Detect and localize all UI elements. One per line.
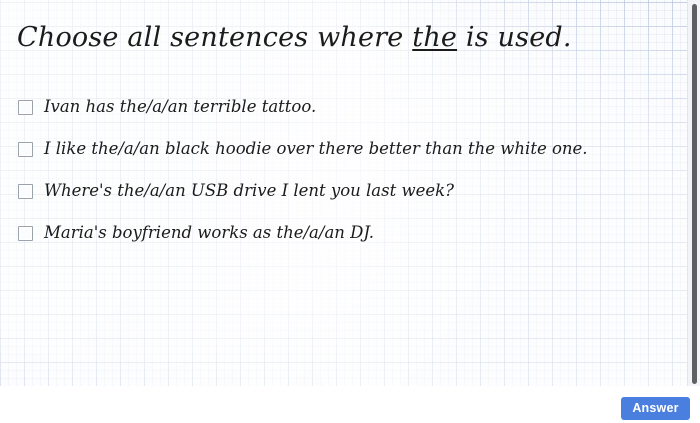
vertical-scrollbar[interactable] bbox=[687, 0, 700, 386]
option-label-4: Maria's boyfriend works as the/a/an DJ. bbox=[44, 222, 374, 243]
option-label-3: Where's the/a/an USB drive I lent you la… bbox=[44, 180, 454, 201]
list-item[interactable]: Ivan has the/a/an terrible tattoo. bbox=[0, 96, 700, 138]
vertical-scrollbar-thumb[interactable] bbox=[692, 4, 697, 384]
question-title-part-before: Choose all sentences where bbox=[17, 22, 412, 53]
option-label-2: I like the/a/an black hoodie over there … bbox=[44, 138, 588, 159]
option-checkbox-4[interactable] bbox=[18, 226, 33, 241]
footer-bar: Answer bbox=[0, 386, 700, 423]
list-item[interactable]: Maria's boyfriend works as the/a/an DJ. bbox=[0, 222, 700, 264]
question-title-part-after: is used. bbox=[457, 22, 572, 53]
option-checkbox-3[interactable] bbox=[18, 184, 33, 199]
list-item[interactable]: I like the/a/an black hoodie over there … bbox=[0, 138, 700, 180]
answer-button[interactable]: Answer bbox=[621, 397, 690, 420]
list-item[interactable]: Where's the/a/an USB drive I lent you la… bbox=[0, 180, 700, 222]
exercise-page: Choose all sentences where the is used. … bbox=[0, 0, 700, 423]
option-checkbox-1[interactable] bbox=[18, 100, 33, 115]
option-checkbox-2[interactable] bbox=[18, 142, 33, 157]
question-title-underlined-word: the bbox=[412, 22, 457, 53]
options-list: Ivan has the/a/an terrible tattoo. I lik… bbox=[0, 96, 700, 264]
option-label-1: Ivan has the/a/an terrible tattoo. bbox=[44, 96, 316, 117]
page-title: Choose all sentences where the is used. bbox=[17, 20, 667, 56]
